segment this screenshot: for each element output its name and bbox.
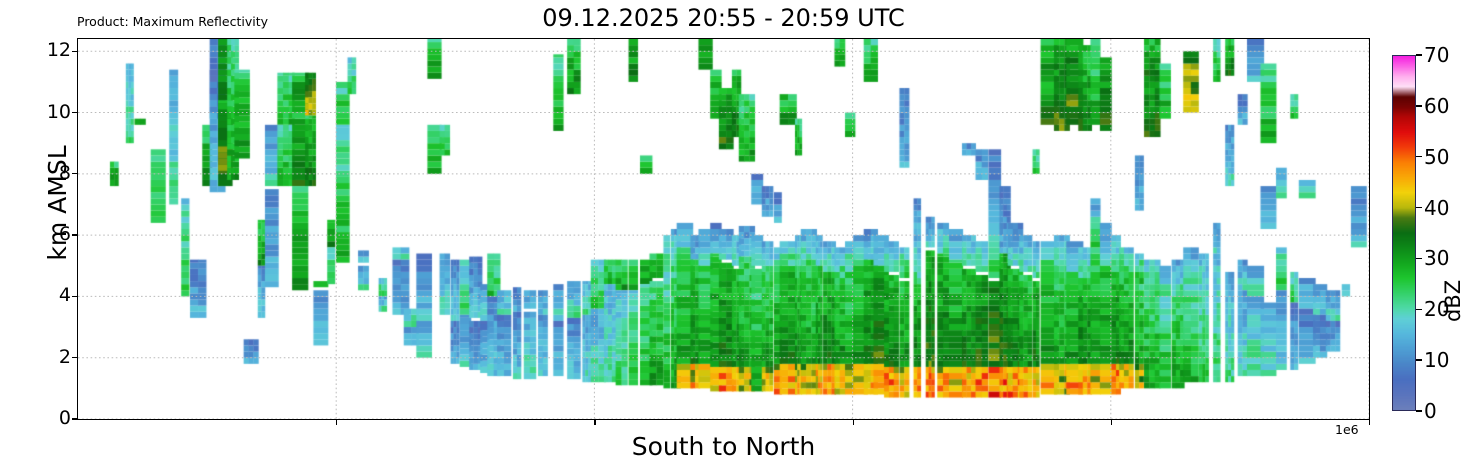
reflectivity-heatmap (78, 39, 1369, 419)
y-axis-tick-label: 4 (31, 286, 71, 305)
colorbar-tick-mark (1416, 359, 1422, 360)
colorbar-tick-mark (1416, 156, 1422, 157)
colorbar-gradient (1393, 56, 1415, 410)
colorbar (1392, 55, 1416, 411)
y-axis-tick-label: 0 (31, 409, 71, 428)
x-axis-tick-mark (336, 420, 337, 425)
colorbar-tick-mark (1416, 258, 1422, 259)
y-axis-tick-label: 2 (31, 348, 71, 367)
colorbar-tick-mark (1416, 309, 1422, 310)
y-axis-tick-label: 12 (31, 41, 71, 60)
colorbar-tick-label: 50 (1424, 147, 1449, 167)
colorbar-tick-label: 70 (1424, 45, 1449, 65)
x-axis-tick-mark (1111, 420, 1112, 425)
plot-area (77, 38, 1370, 420)
y-axis-tick-label: 8 (31, 164, 71, 183)
y-axis-label: km AMSL (45, 12, 71, 394)
colorbar-tick-label: 60 (1424, 96, 1449, 116)
colorbar-tick-mark (1416, 54, 1422, 55)
radar-cross-section-figure: Product: Maximum Reflectivity 09.12.2025… (0, 0, 1482, 470)
colorbar-tick-label: 10 (1424, 350, 1449, 370)
x-axis-tick-mark (1369, 420, 1370, 425)
x-axis-tick-mark (594, 420, 595, 425)
y-axis-tick-label: 6 (31, 225, 71, 244)
y-axis-tick-label: 10 (31, 103, 71, 122)
x-axis-offset-text: 1e6 (1335, 423, 1359, 437)
colorbar-tick-mark (1416, 105, 1422, 106)
colorbar-tick-label: 0 (1424, 401, 1437, 421)
colorbar-tick-mark (1416, 410, 1422, 411)
page-title: 09.12.2025 20:55 - 20:59 UTC (77, 4, 1370, 32)
x-axis-label: South to North (77, 432, 1370, 461)
colorbar-tick-mark (1416, 207, 1422, 208)
colorbar-unit-label: dBZ (1440, 202, 1466, 322)
x-axis-tick-mark (853, 420, 854, 425)
